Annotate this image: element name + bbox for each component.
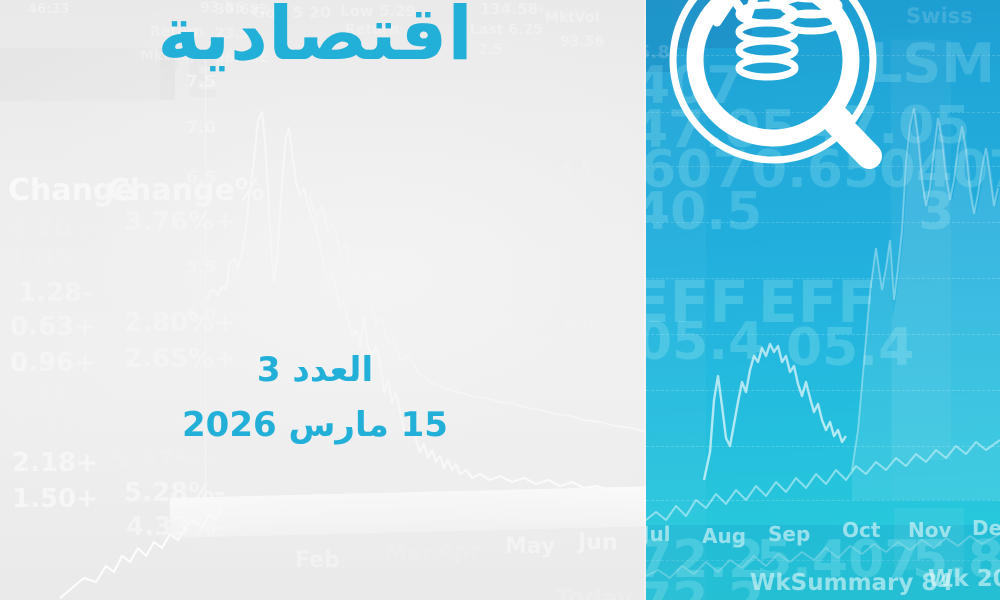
- blue-gridline-8: [646, 446, 1000, 447]
- x-tick-feb: Feb: [295, 548, 340, 573]
- x-tick-mar: Mar: [385, 542, 433, 567]
- chart-gridline-65: [150, 225, 480, 226]
- blue-line-chart: [646, 0, 1000, 600]
- pct-value-3: +2.80%: [124, 308, 236, 338]
- blue-gridline-3: [646, 166, 1000, 167]
- x-tick-dec: Dec: [972, 516, 1000, 540]
- blue-ghost-65: 407: [646, 56, 743, 116]
- blue-ghost-405: 40.5: [646, 182, 762, 242]
- left-secondary-chart: [0, 0, 646, 600]
- blue-ghost-4705: 47.05: [646, 100, 796, 160]
- blue-gridline-5: [646, 278, 1000, 279]
- blue-bottom-band: [646, 525, 1000, 600]
- x-tick-aug: Aug: [702, 524, 746, 548]
- newsletter-cover: 0.607E 46:33 93.56 Gov 5 20 Return 23.54…: [0, 0, 1000, 600]
- blue-gridline-7: [646, 390, 1000, 391]
- blue-gridline-6: [646, 334, 1000, 335]
- x-tick-oct: Oct: [842, 518, 880, 542]
- blue-ghost-0650: 0.650: [751, 140, 915, 200]
- chart-axis-vertical: [205, 60, 206, 515]
- blue-panel-tint: [646, 0, 1000, 600]
- right-financial-backdrop: 5.8 407 47.05 47.05 607 0.650 407 40.5 3…: [646, 0, 1000, 600]
- change-value-7: +2.18: [12, 448, 98, 478]
- blue-area-chart: [646, 0, 1000, 600]
- summary-label-20wk: 20 Wk: [928, 566, 1000, 592]
- blue-label-lsm: LSM: [868, 32, 995, 95]
- x-tick-jun: Jun: [578, 530, 618, 555]
- y-ghost-60: 6.0: [564, 316, 594, 336]
- blue-gridline-10: [646, 560, 1000, 561]
- blue-label-58: 5.8: [646, 42, 670, 63]
- issue-number-label: العدد 3: [0, 350, 630, 390]
- blue-shade-col-1: [646, 0, 706, 600]
- blue-ghost-607: 607: [646, 140, 749, 200]
- left-tertiary-chart: [0, 0, 646, 600]
- y-ghost-55: 5.5: [562, 248, 592, 268]
- blue-ghost-eff-1: EFF: [646, 268, 749, 336]
- blue-gridline-1: [646, 55, 1000, 56]
- blue-bottom-highlight: [894, 508, 964, 570]
- blue-ghost-722: 5.8: [912, 530, 1000, 590]
- left-financial-backdrop: 0.607E 46:33 93.56 Gov 5 20 Return 23.54…: [0, 0, 646, 600]
- column-header-pct-change: %Change: [108, 173, 265, 208]
- x-tick-sep: Sep: [768, 522, 810, 546]
- blue-ghost-407b: 72.2: [646, 572, 764, 600]
- blue-shade-corner-2: [672, 0, 752, 48]
- blue-shade-corner: [646, 0, 672, 72]
- pct-value-8: -5.28%: [124, 478, 225, 508]
- left-price-chart: [0, 0, 646, 600]
- blue-ghost-3: 3: [918, 182, 954, 242]
- blue-gridline-9: [646, 500, 1000, 501]
- pct-value-2: -3: [128, 278, 157, 308]
- blue-ghost-054: 05.4: [646, 312, 764, 372]
- blue-ghost-6: 407: [916, 140, 1000, 200]
- gray-foreground-sheet: [170, 486, 646, 538]
- page-title: اقتصادية: [0, 0, 630, 74]
- pct-value-9: -4.33%: [126, 512, 227, 542]
- y-tick-55: 5.5: [186, 258, 216, 278]
- y-ghost-65: 6.5: [562, 160, 592, 180]
- chart-gridline-70: [150, 130, 480, 131]
- y-tick-60: 6.0: [186, 305, 216, 325]
- blue-ghost-4705b: 47.05: [806, 96, 970, 156]
- change-value-2: -1.28: [18, 278, 93, 308]
- change-value-8: +1.50: [12, 484, 98, 514]
- y-tick-70: 7.0: [186, 118, 216, 138]
- change-value-3: +0.63: [10, 312, 96, 342]
- x-tick-apr: Apr: [437, 540, 481, 565]
- blue-gridline-4: [646, 222, 1000, 223]
- blue-ghost-5407: 5.407: [756, 530, 920, 590]
- blue-ghost-054b: 05.4: [786, 318, 914, 378]
- y-tick-65: 6.5: [186, 168, 216, 188]
- change-value-0: +6.26: [8, 213, 94, 243]
- pct-value-0: +3.76%: [124, 207, 236, 237]
- summary-label-84wk: 84 WkSummary: [750, 570, 953, 596]
- blue-ghost-eff-2: EFF: [758, 268, 877, 336]
- blue-label-swiss: Swiss: [906, 4, 973, 28]
- footer-today-label: Today: [555, 584, 633, 600]
- issue-date-label: 15 مارس 2026: [0, 405, 630, 445]
- x-tick-jul: Jul: [646, 522, 671, 546]
- blue-gridline-2: [646, 112, 1000, 113]
- pct-value-1: -3: [128, 245, 157, 275]
- blue-ghost-407: 72.2: [646, 530, 764, 590]
- x-tick-nov: Nov: [908, 518, 952, 542]
- column-header-change: Change: [8, 173, 135, 208]
- blue-shade-col-2: [891, 40, 951, 460]
- x-tick-may: May: [505, 534, 555, 559]
- pct-value-7: +5.97%: [110, 446, 222, 476]
- change-value-1: +1.05: [8, 245, 94, 275]
- chart-gridline-60: [150, 318, 480, 319]
